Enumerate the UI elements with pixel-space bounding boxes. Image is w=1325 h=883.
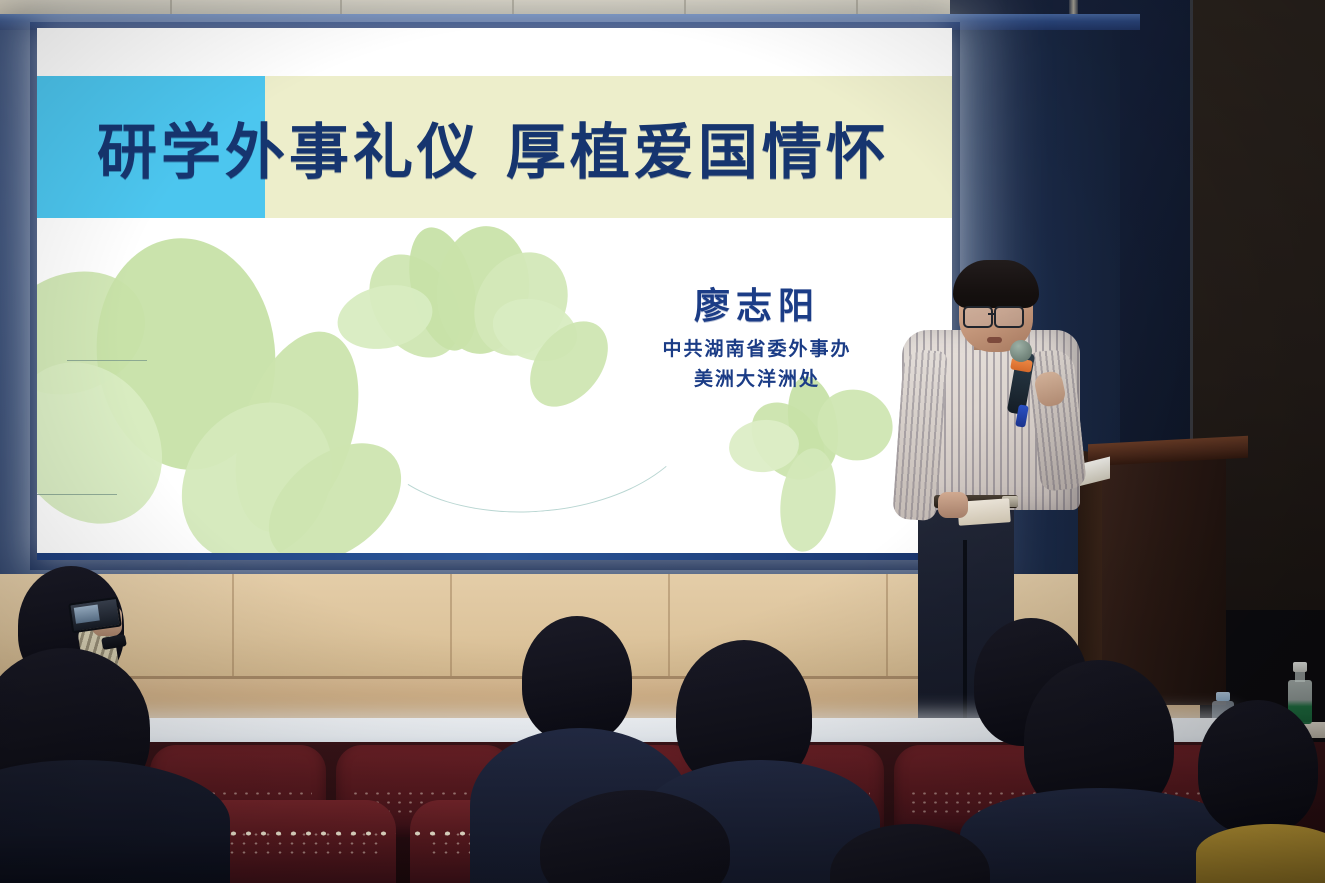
wall-panel-seam [668,574,670,684]
speaker-mouth [987,337,1002,343]
audience-head [1198,700,1318,834]
slide-affiliation-line-2: 美洲大洋洲处 [597,364,917,391]
bottle-cap [1293,662,1307,672]
lecture-hall-photo: 研学外事礼仪 厚植爱国情怀 廖志阳 中共湖南省委外事办 美洲大洋洲处 [0,0,1325,883]
presentation-slide: 研学外事礼仪 厚植爱国情怀 廖志阳 中共湖南省委外事办 美洲大洋洲处 [37,28,952,560]
audience-shoulders [1196,824,1325,883]
speaker-glasses-left-lens [963,306,993,328]
speaker-hair [953,260,1039,308]
slide-speaker-block: 廖志阳 中共湖南省委外事办 美洲大洋洲处 [597,286,917,391]
bottle-cap [1216,692,1230,701]
slide-title: 研学外事礼仪 厚植爱国情怀 [97,88,952,206]
slide-bottom-bar [37,553,952,560]
audience-head [522,616,632,742]
speaker-left-hand [938,492,968,518]
slide-speaker-name: 廖志阳 [597,286,917,327]
speaker-glasses-right-lens [994,306,1024,328]
wall-panel-seam [886,574,888,684]
phone-screen [74,605,100,624]
slide-affiliation-line-1: 中共湖南省委外事办 [597,334,917,361]
decorative-line [67,360,147,361]
speaker-leg-seam [963,540,967,730]
wall-panel-seam [450,574,452,684]
decorative-line [37,494,117,495]
speaker-glasses-bridge [988,313,996,315]
wall-panel-seam [232,574,234,684]
